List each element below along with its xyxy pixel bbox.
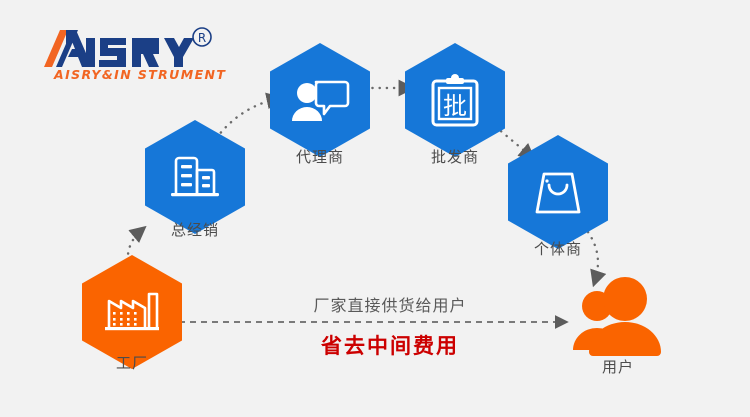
building-icon — [145, 120, 245, 234]
clipboard-batch-icon: 批 — [405, 43, 505, 157]
person-chat-icon — [270, 43, 370, 157]
general-distributor-hexagon[interactable] — [145, 120, 245, 234]
agent-hexagon[interactable] — [270, 43, 370, 157]
caption-savings: 省去中间费用 — [321, 330, 459, 360]
svg-text:R: R — [198, 31, 206, 45]
wholesaler-hexagon[interactable]: 批 — [405, 43, 505, 157]
diagram-canvas: R AISRY&IN STRUMENT — [0, 0, 750, 417]
retailer-hexagon[interactable] — [508, 135, 608, 249]
brand-logo: R AISRY&IN STRUMENT — [26, 24, 226, 82]
node-label-user: 用户 — [602, 356, 634, 377]
node-label-agent: 代理商 — [296, 146, 344, 167]
svg-text:批: 批 — [443, 92, 467, 120]
node-label-factory: 工厂 — [116, 352, 148, 373]
caption-direct-supply: 厂家直接供货给用户 — [313, 292, 466, 316]
shopping-bag-icon — [508, 135, 608, 249]
users-icon[interactable] — [563, 274, 673, 362]
node-label-retailer: 个体商 — [534, 238, 582, 259]
brand-tagline: AISRY&IN STRUMENT — [53, 67, 226, 82]
node-label-general-distributor: 总经销 — [171, 219, 219, 240]
node-label-wholesaler: 批发商 — [431, 146, 479, 167]
